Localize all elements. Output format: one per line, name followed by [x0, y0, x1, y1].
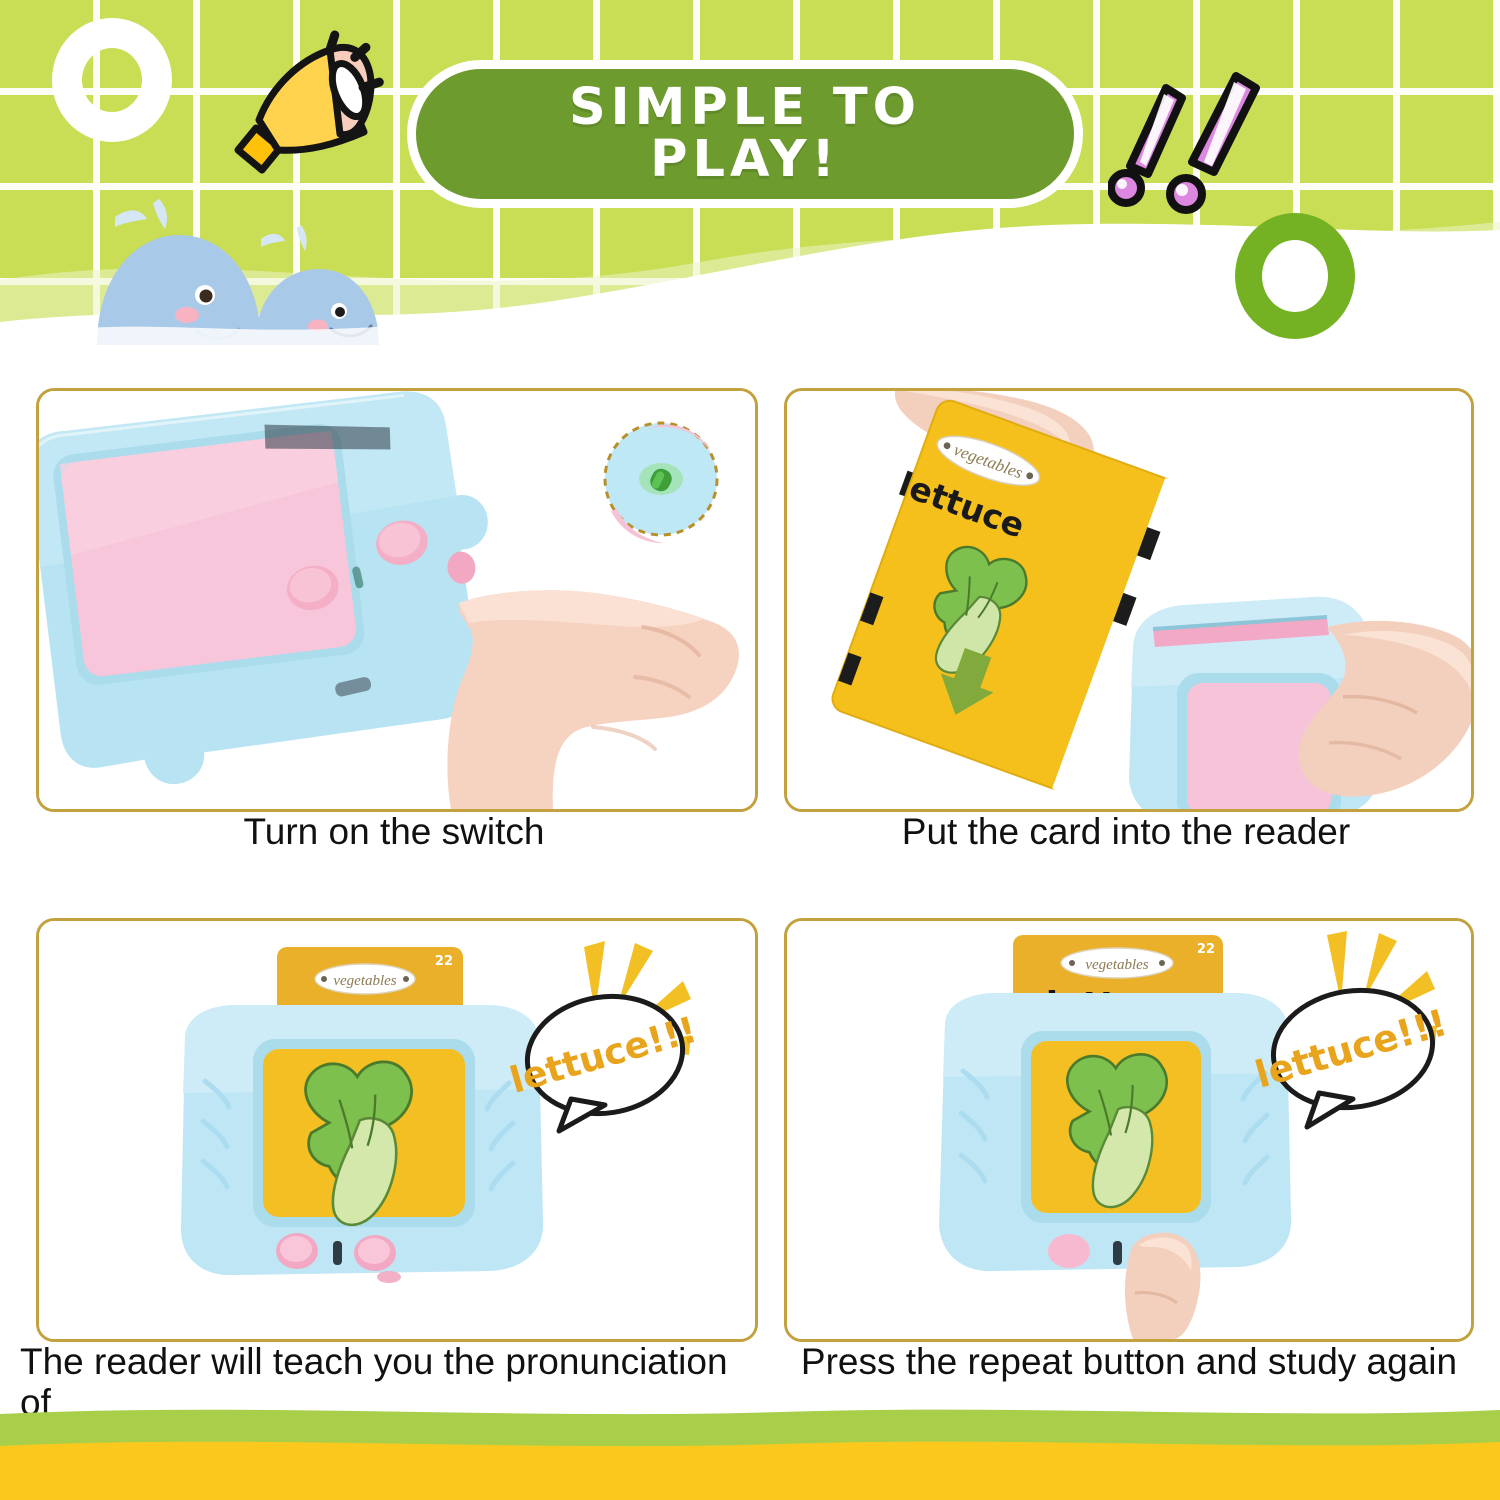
title-line-2: PLAY! [569, 134, 921, 186]
step-panel-4: vegetables 22 lettuce [784, 918, 1474, 1342]
header-banner: SIMPLE TO PLAY! [0, 0, 1500, 352]
step-1-illustration [39, 391, 755, 809]
step-2-illustration: vegetables lettuce [787, 391, 1471, 809]
step-2-caption: Put the card into the reader [784, 812, 1468, 853]
step-1-caption: Turn on the switch [36, 812, 752, 853]
double-exclamation-icon [1108, 66, 1280, 216]
step-4-illustration: vegetables 22 lettuce [787, 921, 1471, 1339]
pressing-finger-icon [1125, 1233, 1200, 1339]
step-panel-3: vegetables 22 lettuce [36, 918, 758, 1342]
card-category-label-4: vegetables [1085, 957, 1148, 973]
card-number-4: 22 [1197, 942, 1215, 957]
reader-device-3 [181, 1005, 543, 1283]
repeat-button-left [1048, 1234, 1090, 1268]
megaphone-icon [212, 28, 412, 210]
white-ring-decoration-icon [52, 18, 172, 142]
led-slot-icon [1113, 1241, 1122, 1265]
title-pill: SIMPLE TO PLAY! [407, 60, 1083, 208]
whale-characters-icon [75, 195, 405, 345]
title-line-1: SIMPLE TO [569, 82, 921, 134]
footer-waves [0, 1390, 1500, 1500]
reader-device-4 [939, 993, 1291, 1271]
card-category-label-3: vegetables [333, 973, 396, 989]
step-4-caption: Press the repeat button and study again [784, 1342, 1474, 1383]
card-number-3: 22 [435, 954, 453, 969]
green-ring-decoration-icon [1235, 213, 1355, 339]
step-3-illustration: vegetables 22 lettuce [39, 921, 755, 1339]
page-title: SIMPLE TO PLAY! [569, 82, 921, 186]
step-panel-1 [36, 388, 758, 812]
infographic-page: SIMPLE TO PLAY! [0, 0, 1500, 1500]
step-panel-2: vegetables lettuce [784, 388, 1474, 812]
